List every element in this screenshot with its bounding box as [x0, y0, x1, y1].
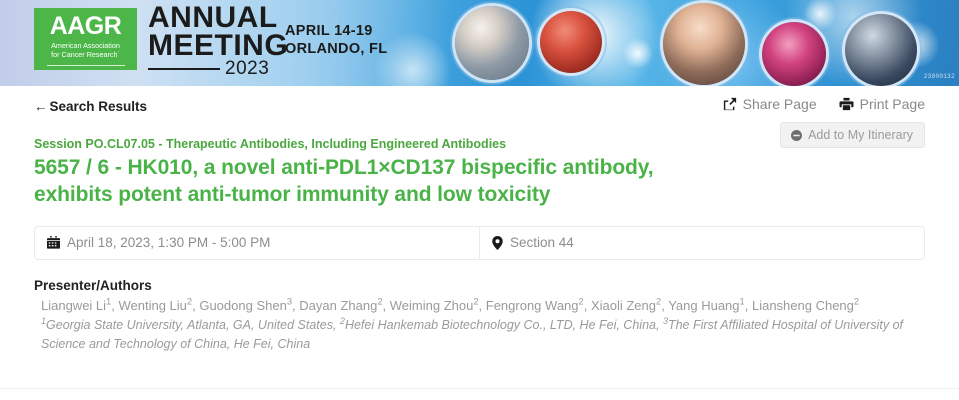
banner-title: ANNUAL MEETING 2023 — [148, 4, 288, 78]
author-affiliation-marker: 2 — [187, 296, 192, 306]
abstract-meta-bar: April 18, 2023, 1:30 PM - 5:00 PM Sectio… — [34, 226, 925, 260]
add-to-my-itinerary-button[interactable]: Add to My Itinerary — [780, 122, 925, 148]
author-name: Guodong Shen — [199, 298, 286, 313]
author-name: Liansheng Cheng — [752, 298, 854, 313]
affiliations-list: 1Georgia State University, Atlanta, GA, … — [34, 316, 925, 355]
author-name: Liangwei Li — [41, 298, 106, 313]
session-location: Section 44 — [510, 235, 574, 250]
author-affiliation-marker: 2 — [473, 296, 478, 306]
author-entry: Dayan Zhang2 — [299, 298, 382, 313]
banner-title-meeting: MEETING — [148, 32, 288, 60]
author-affiliation-marker: 3 — [287, 296, 292, 306]
author-entry: Fengrong Wang2 — [486, 298, 584, 313]
author-entry: Xiaoli Zeng2 — [591, 298, 661, 313]
author-name: Dayan Zhang — [299, 298, 377, 313]
author-affiliation-marker: 2 — [656, 296, 661, 306]
banner-year-row: 2023 — [148, 60, 288, 77]
author-entry: Liangwei Li1 — [41, 298, 111, 313]
print-page-label: Print Page — [860, 96, 925, 112]
calendar-icon — [47, 236, 60, 249]
author-name: Xiaoli Zeng — [591, 298, 656, 313]
author-name: Fengrong Wang — [486, 298, 579, 313]
banner-year: 2023 — [225, 60, 269, 77]
session-datetime-cell: April 18, 2023, 1:30 PM - 5:00 PM — [35, 227, 479, 259]
authors-list: Liangwei Li1, Wenting Liu2, Guodong Shen… — [34, 296, 925, 316]
printer-icon — [839, 97, 854, 111]
print-page-button[interactable]: Print Page — [839, 96, 925, 112]
author-entry: Wenting Liu2 — [118, 298, 192, 313]
banner-dates: APRIL 14-19 — [285, 23, 373, 39]
page-title: 5657 / 6 - HK010, a novel anti-PDL1×CD13… — [34, 155, 699, 208]
session-datetime: April 18, 2023, 1:30 PM - 5:00 PM — [67, 235, 270, 250]
banner-city: ORLANDO, FL — [285, 41, 387, 57]
aacr-logo-subtitle-line1: American Association — [51, 41, 120, 50]
content-divider — [0, 388, 959, 389]
affiliation-text: Georgia State University, Atlanta, GA, U… — [46, 318, 336, 332]
banner-photo-researcher-lab — [455, 6, 529, 80]
banner-dates-location: APRIL 14-19 ORLANDO, FL — [285, 22, 387, 58]
author-name: Wenting Liu — [118, 298, 186, 313]
map-pin-icon — [492, 236, 503, 250]
aacr-logo-subtitle-line2: for Cancer Research˙ — [51, 50, 120, 59]
share-page-label: Share Page — [743, 96, 817, 112]
author-affiliation-marker: 2 — [377, 296, 382, 306]
aacr-logo[interactable]: AAGR American Association for Cancer Res… — [34, 8, 137, 70]
banner-photo-scientist-monitor — [845, 14, 917, 86]
banner-corner-code: 23000132 — [924, 73, 955, 80]
share-page-button[interactable]: Share Page — [723, 96, 817, 112]
page-content: ←Search Results Share Page — [0, 86, 959, 354]
banner-photo-cell-micrograph — [762, 22, 826, 86]
page-topbar: ←Search Results Share Page — [34, 86, 925, 132]
author-affiliation-marker: 1 — [740, 296, 745, 306]
author-affiliation-marker: 2 — [854, 296, 859, 306]
affiliation-text: Hefei Hankemab Biotechnology Co., LTD, H… — [345, 318, 660, 332]
presenter-authors-heading: Presenter/Authors — [34, 278, 925, 293]
page-actions: Share Page Print Page — [723, 96, 925, 112]
session-location-cell: Section 44 — [479, 227, 924, 259]
author-affiliation-marker: 2 — [579, 296, 584, 306]
author-affiliation-marker: 1 — [106, 296, 111, 306]
author-entry: Guodong Shen3 — [199, 298, 292, 313]
minus-circle-icon — [791, 130, 802, 141]
aacr-logo-subtitle: American Association for Cancer Research… — [51, 42, 120, 60]
author-name: Yang Huang — [668, 298, 739, 313]
aacr-annual-meeting-banner: AAGR American Association for Cancer Res… — [0, 0, 959, 86]
author-entry: Weiming Zhou2 — [390, 298, 479, 313]
aacr-logo-rule — [47, 65, 125, 66]
back-to-search-results-link[interactable]: ←Search Results — [34, 99, 147, 114]
banner-year-rule — [148, 68, 220, 70]
author-entry: Liansheng Cheng2 — [752, 298, 859, 313]
add-to-my-itinerary-label: Add to My Itinerary — [808, 128, 913, 142]
aacr-logo-acronym: AAGR — [50, 14, 122, 39]
presenter-authors-section: Presenter/Authors Liangwei Li1, Wenting … — [34, 260, 925, 355]
banner-photo-patient-family — [663, 3, 745, 85]
back-link-label: Search Results — [50, 99, 148, 114]
share-icon — [723, 97, 737, 111]
banner-title-annual: ANNUAL — [148, 4, 288, 32]
itinerary-action-wrap: Add to My Itinerary — [780, 122, 925, 148]
banner-photo-tissue-micrograph — [540, 11, 602, 73]
arrow-left-icon: ← — [34, 99, 48, 114]
author-name: Weiming Zhou — [390, 298, 474, 313]
author-entry: Yang Huang1 — [668, 298, 745, 313]
